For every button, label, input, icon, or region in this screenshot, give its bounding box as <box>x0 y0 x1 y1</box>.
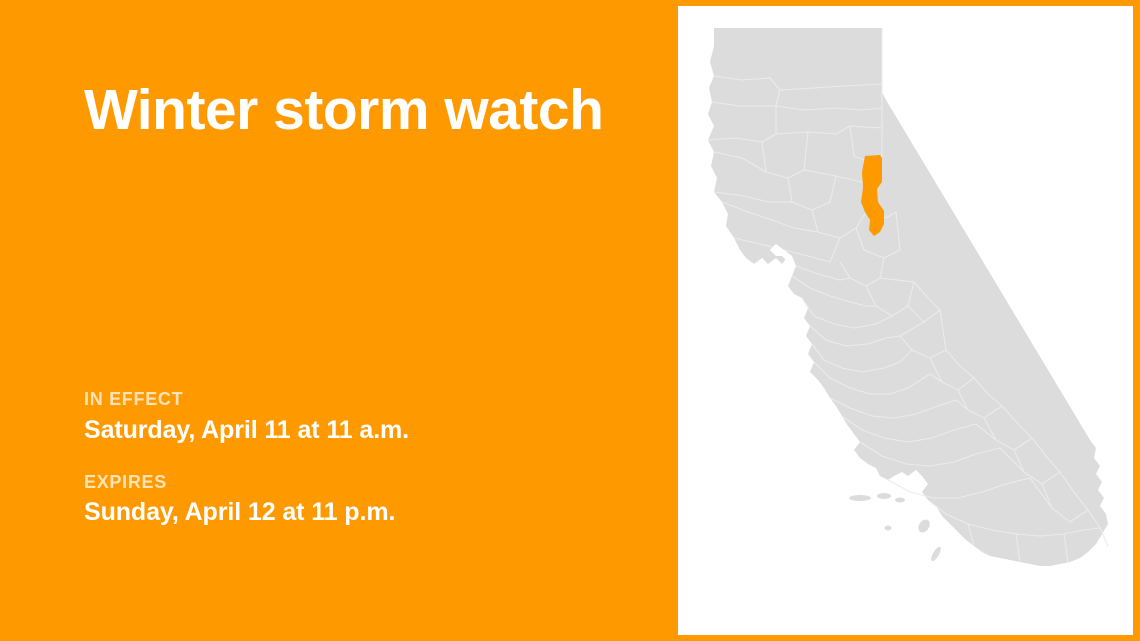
in-effect-group: IN EFFECT Saturday, April 11 at 11 a.m. <box>84 389 644 446</box>
alert-info-panel: Winter storm watch IN EFFECT Saturday, A… <box>0 0 678 641</box>
weather-alert-graphic: Winter storm watch IN EFFECT Saturday, A… <box>0 0 1140 641</box>
expires-label: EXPIRES <box>84 472 644 494</box>
map-panel <box>684 6 1133 635</box>
frame-border-right <box>1133 0 1140 641</box>
expires-group: EXPIRES Sunday, April 12 at 11 p.m. <box>84 472 644 529</box>
alert-title: Winter storm watch <box>84 78 603 144</box>
expires-value: Sunday, April 12 at 11 p.m. <box>84 497 644 528</box>
frame-border-bottom <box>678 635 1140 641</box>
alert-times-block: IN EFFECT Saturday, April 11 at 11 a.m. … <box>84 389 644 529</box>
state-outline <box>708 28 1108 566</box>
california-county-map <box>684 6 1133 635</box>
in-effect-label: IN EFFECT <box>84 389 644 411</box>
channel-islands <box>849 493 943 562</box>
in-effect-value: Saturday, April 11 at 11 a.m. <box>84 415 644 446</box>
